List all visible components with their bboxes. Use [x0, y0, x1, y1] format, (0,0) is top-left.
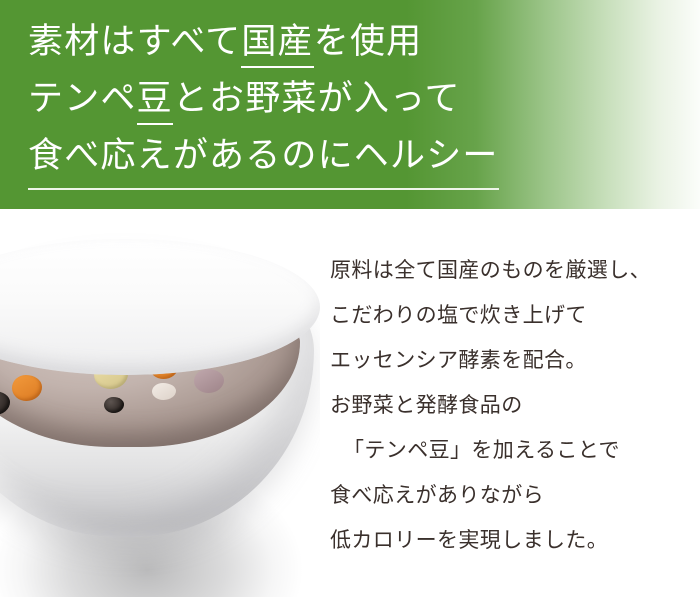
- ingredient-grain: [194, 369, 224, 393]
- headline-banner: 素材はすべて国産を使用 テンペ豆とお野菜が入って 食べ応えがあるのにヘルシー: [0, 0, 700, 209]
- description-line-2: こだわりの塩で炊き上げて: [330, 293, 690, 338]
- ingredient-black-bean: [0, 391, 10, 415]
- photo-shadow: [0, 209, 320, 597]
- headline-line-2: テンペ豆とお野菜が入って: [28, 70, 658, 127]
- description-text-block: 原料は全て国産のものを厳選し、 こだわりの塩で炊き上げて エッセンシア酵素を配合…: [330, 248, 690, 563]
- description-line-5: 「テンペ豆」を加えることで: [330, 428, 690, 473]
- ingredient-rice: [152, 383, 176, 400]
- headline-line-3: 食べ応えがあるのにヘルシー: [28, 127, 499, 190]
- description-line-7: 低カロリーを実現しました。: [330, 518, 690, 563]
- description-line-3: エッセンシア酵素を配合。: [330, 338, 690, 383]
- headline-line-1: 素材はすべて国産を使用: [28, 13, 658, 70]
- description-line-4: お野菜と発酵食品の: [330, 383, 690, 428]
- headline-text-block: 素材はすべて国産を使用 テンペ豆とお野菜が入って 食べ応えがあるのにヘルシー: [28, 13, 658, 190]
- headline-line-2-post: とお野菜が入って: [173, 79, 461, 118]
- headline-line-3-wrap: 食べ応えがあるのにヘルシー: [28, 127, 658, 190]
- product-photo: [0, 209, 320, 597]
- description-line-6: 食べ応えがありながら: [330, 473, 690, 518]
- ingredient-black-bean: [104, 397, 124, 413]
- headline-line-2-underlined: 豆: [137, 79, 173, 125]
- ingredient-carrot: [12, 375, 42, 401]
- description-line-1: 原料は全て国産のものを厳選し、: [330, 248, 690, 293]
- headline-line-1-underlined: 国産: [241, 22, 313, 68]
- headline-line-1-post: を使用: [314, 22, 423, 61]
- product-description-page: 素材はすべて国産を使用 テンペ豆とお野菜が入って 食べ応えがあるのにヘルシー: [0, 0, 700, 597]
- headline-line-1-pre: 素材はすべて: [28, 22, 241, 61]
- headline-line-2-pre: テンペ: [28, 79, 137, 118]
